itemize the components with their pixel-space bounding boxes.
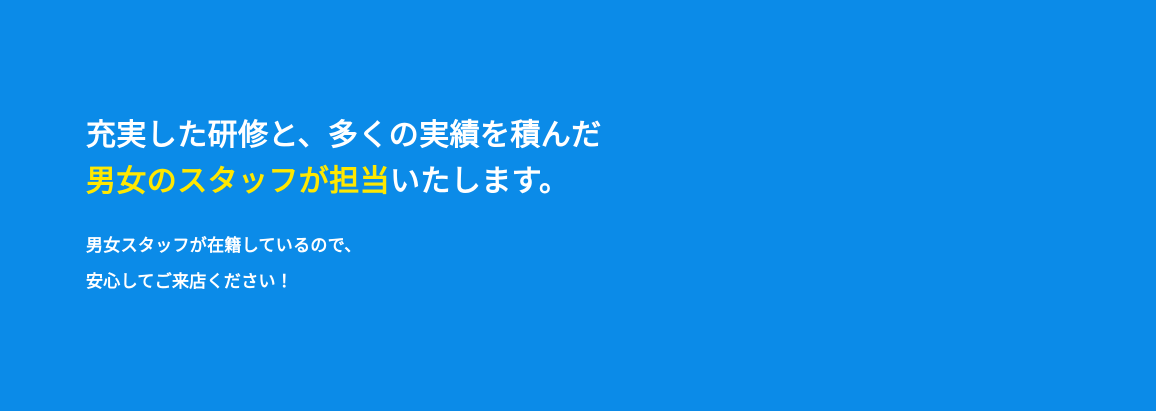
headline-accent-text: 男女のスタッフが担当 <box>86 165 390 198</box>
headline-line-1: 充実した研修と、多くの実績を積んだ <box>86 113 986 159</box>
headline-line-2: 男女のスタッフが担当いたします。 <box>86 159 986 205</box>
headline-block: 充実した研修と、多くの実績を積んだ 男女のスタッフが担当いたします。 <box>86 113 986 205</box>
subtext-line-1: 男女スタッフが在籍しているので、 <box>86 228 362 264</box>
headline: 充実した研修と、多くの実績を積んだ 男女のスタッフが担当いたします。 <box>86 113 986 205</box>
subtext-block: 男女スタッフが在籍しているので、 安心してご来店ください！ <box>86 228 362 300</box>
headline-plain-text: いたします。 <box>390 165 569 198</box>
subtext-line-2: 安心してご来店ください！ <box>86 264 362 300</box>
promo-banner: 充実した研修と、多くの実績を積んだ 男女のスタッフが担当いたします。 男女スタッ… <box>0 0 1156 411</box>
